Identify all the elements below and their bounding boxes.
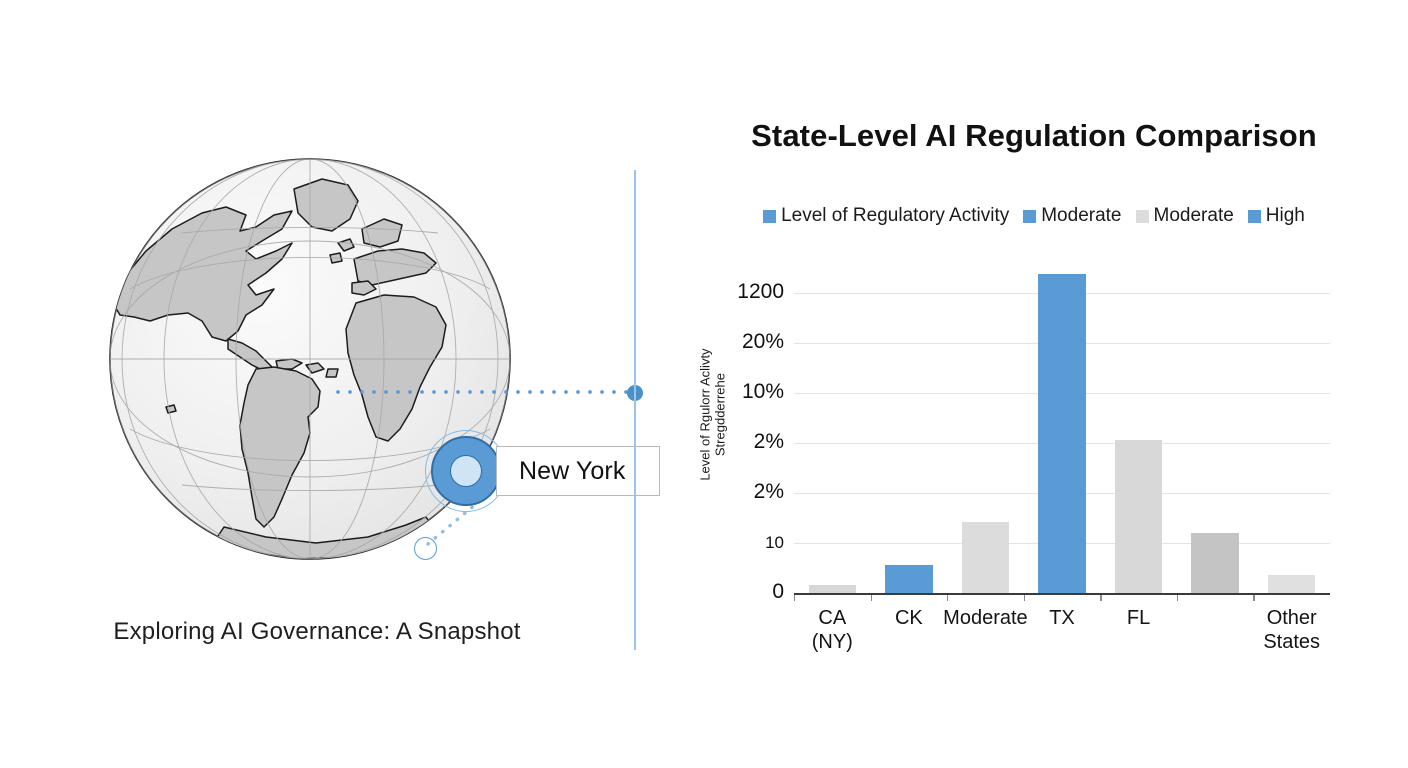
bar[interactable] [1268,575,1315,593]
chart-plot-area: Level of Rgulorr Aclivty Stregdderrehe 1… [660,0,1408,768]
y-axis-tick-label: 2% [712,430,784,454]
x-axis-tick [1177,595,1178,601]
globe-graphic: New York [106,155,514,563]
x-axis-tick [1100,595,1101,601]
y-axis-title-line1: Level of Rgulorr Aclivty [698,315,713,515]
globe-panel: New York Exploring AI Governance: A Snap… [0,0,634,768]
leader-line-horizontal [332,390,632,394]
y-axis-tick-label: 10% [712,380,784,404]
screenshot-root: New York Exploring AI Governance: A Snap… [0,0,1408,768]
bar[interactable] [1038,274,1085,593]
x-axis-tick [871,595,872,601]
x-axis-tick [794,595,795,601]
x-axis-tick [1253,595,1254,601]
y-axis-tick-label: 20% [712,330,784,354]
bar[interactable] [885,565,932,593]
location-marker-core [450,455,482,487]
bar[interactable] [809,585,856,593]
x-axis-tick [1024,595,1025,601]
bar[interactable] [962,522,1009,593]
y-axis-tick-label: 2% [712,480,784,504]
globe-caption: Exploring AI Governance: A Snapshot [0,618,634,646]
x-axis-tick-label: FL [1086,607,1191,631]
bar[interactable] [1115,440,1162,593]
x-axis-tick-label: Other States [1239,607,1344,654]
y-axis-tick-label: 0 [712,580,784,604]
x-axis-baseline [794,593,1330,595]
x-axis-tick [947,595,948,601]
bar[interactable] [1191,533,1238,593]
y-axis-tick-label: 1200 [712,280,784,304]
chart-panel: State-Level AI Regulation Comparison Lev… [660,0,1408,768]
y-axis-tick-label: 10 [712,533,784,553]
callout-label: New York [519,457,625,486]
panel-divider [634,170,636,650]
